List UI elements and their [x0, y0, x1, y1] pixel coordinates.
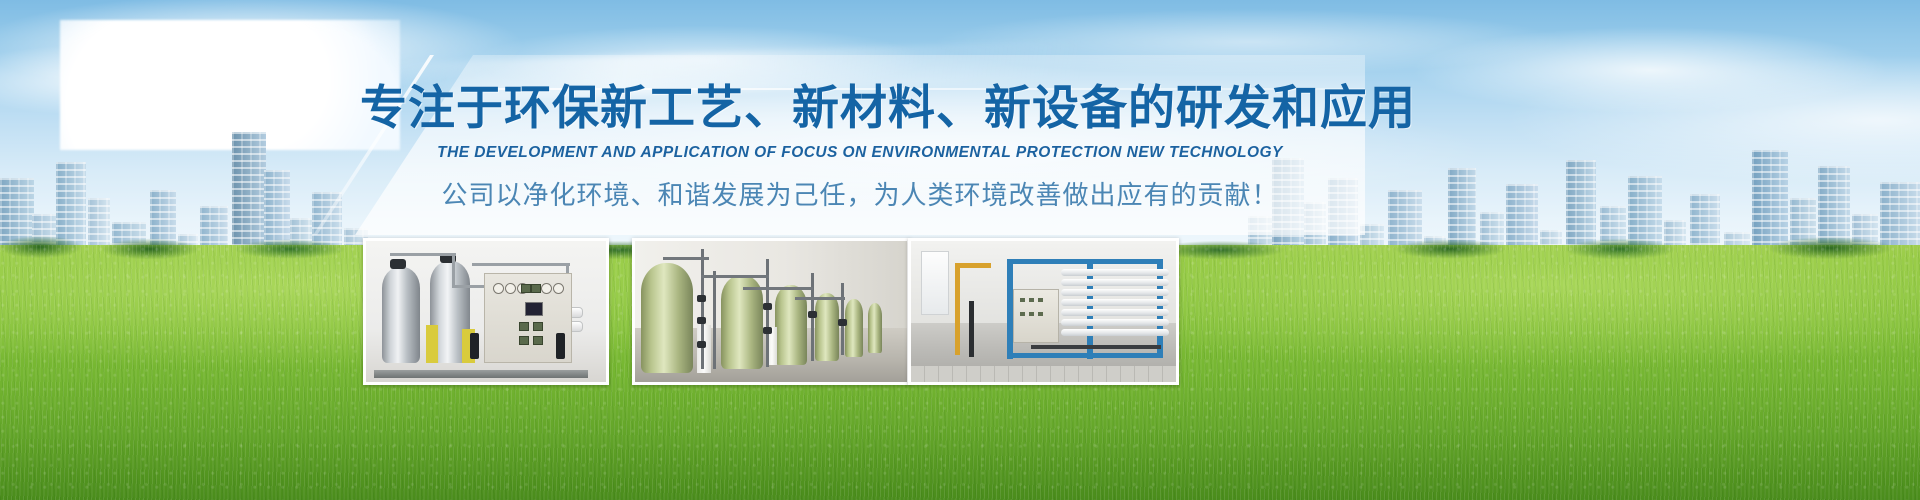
photo-stainless-steel-water-treatment-skid[interactable] [363, 238, 609, 385]
banner-headline: 专注于环保新工艺、新材料、新设备的研发和应用 [360, 80, 1360, 135]
hero-banner: 专注于环保新工艺、新材料、新设备的研发和应用 THE DEVELOPMENT A… [0, 0, 1920, 500]
banner-copy: 专注于环保新工艺、新材料、新设备的研发和应用 THE DEVELOPMENT A… [360, 80, 1360, 212]
photo-industrial-ro-membrane-plant[interactable] [908, 238, 1179, 385]
photo-frp-filter-vessel-row[interactable] [632, 238, 910, 385]
product-photo-strip [363, 238, 1173, 383]
banner-subline-english: THE DEVELOPMENT AND APPLICATION OF FOCUS… [360, 144, 1360, 162]
banner-tagline: 公司以净化环境、和谐发展为己任，为人类环境改善做出应有的贡献！ [360, 175, 1360, 212]
